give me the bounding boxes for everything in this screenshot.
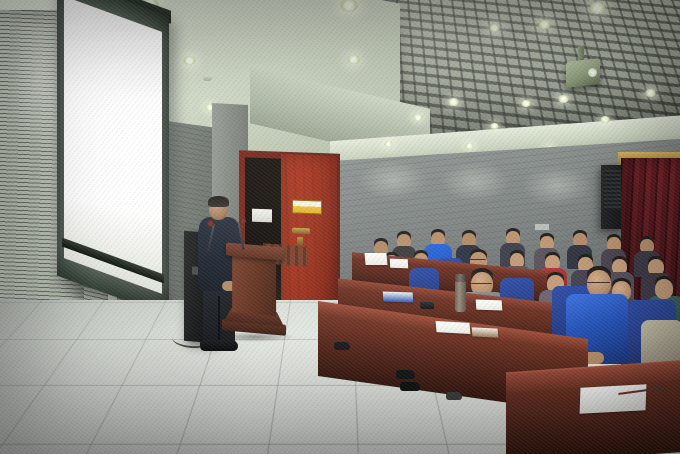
document-sheet bbox=[436, 321, 471, 334]
notebook bbox=[472, 327, 499, 337]
downlight-icon bbox=[490, 123, 499, 129]
mobile-phone bbox=[420, 302, 434, 310]
door-lock-icon[interactable] bbox=[297, 237, 303, 246]
presenter-left-arm bbox=[198, 226, 211, 288]
downlight-icon bbox=[600, 116, 610, 123]
microphone-icon bbox=[240, 218, 246, 224]
wall-light-pool bbox=[522, 166, 592, 206]
document-sheet bbox=[476, 300, 503, 311]
eyeglasses-icon bbox=[471, 283, 492, 286]
eyeglasses-icon bbox=[587, 282, 610, 285]
lecture-hall-photo: Conference hall lecture — presenter at p… bbox=[0, 0, 680, 454]
wall-light-pool bbox=[358, 160, 428, 200]
downlight-icon bbox=[489, 24, 500, 32]
podium-column bbox=[232, 254, 276, 316]
downlight-icon bbox=[384, 141, 393, 147]
presenter-hair bbox=[208, 196, 229, 207]
projector-lens-icon bbox=[588, 68, 597, 77]
downlight-icon bbox=[183, 56, 196, 65]
wall-light-pool bbox=[440, 162, 510, 202]
paper-stack bbox=[365, 253, 388, 265]
downlight-icon bbox=[347, 55, 360, 64]
attendee-shoe bbox=[396, 370, 415, 379]
presenter-shoes bbox=[200, 340, 238, 351]
notebook bbox=[383, 291, 414, 302]
attendee-shoe bbox=[400, 382, 420, 391]
smoke-detector-icon bbox=[203, 75, 212, 81]
downlight-icon bbox=[558, 95, 569, 103]
microphone-icon bbox=[207, 220, 214, 227]
back-wall-marking bbox=[535, 224, 549, 230]
downlight-icon bbox=[645, 89, 656, 97]
door-closed-leaf[interactable] bbox=[281, 154, 337, 324]
downlight-icon bbox=[413, 114, 423, 121]
door-handle-icon[interactable] bbox=[292, 228, 310, 235]
eyeglasses-icon bbox=[470, 259, 486, 262]
thermos-cap bbox=[455, 274, 466, 282]
paper-stack bbox=[390, 259, 408, 269]
door-interior-notice bbox=[252, 209, 272, 223]
document-sheet bbox=[580, 384, 647, 414]
downlight-icon bbox=[448, 98, 459, 106]
attendee-shoe bbox=[334, 342, 350, 350]
downlight-icon bbox=[538, 20, 551, 29]
downlight-icon bbox=[465, 143, 474, 149]
door-notice-sign bbox=[292, 199, 322, 214]
downlight-icon bbox=[521, 100, 531, 107]
attendee-head bbox=[655, 279, 673, 299]
attendee-shoe bbox=[446, 392, 462, 400]
downlight-icon bbox=[589, 2, 606, 14]
thermos-flask bbox=[455, 280, 466, 312]
